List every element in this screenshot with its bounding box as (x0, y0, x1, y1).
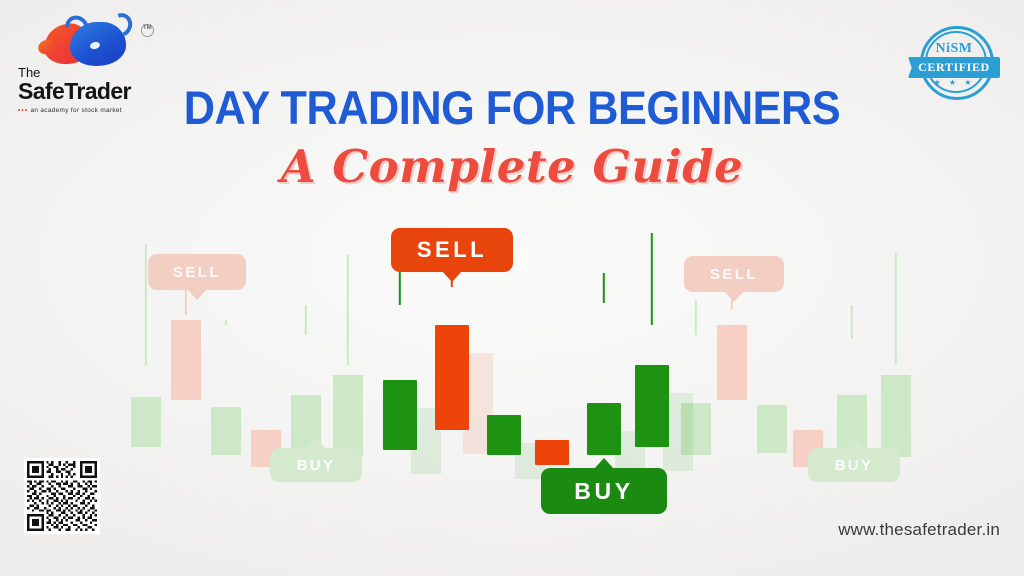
signal-tag-label: BUY (835, 457, 874, 474)
qr-code[interactable] (24, 458, 100, 534)
candlestick-wick (603, 273, 605, 303)
signal-tag-pointer-icon (187, 289, 207, 300)
qr-code-icon (27, 461, 97, 531)
candlestick-body (171, 320, 201, 400)
signal-tag-pointer-icon (724, 291, 744, 302)
candlestick-wick (145, 244, 147, 365)
candlestick-body (383, 380, 417, 450)
trademark-icon: TM (141, 24, 154, 37)
bull-horn-right-icon (106, 9, 136, 40)
candlestick-wick (851, 305, 853, 339)
candlestick-wick (695, 300, 697, 335)
badge-certified-label: CERTIFIED (908, 57, 1000, 78)
candlestick-wick (347, 255, 349, 365)
signal-tag-pointer-icon (844, 438, 864, 449)
signal-tag-label: BUY (297, 457, 336, 474)
signal-tag-pointer-icon (442, 271, 462, 282)
buy-signal-tag[interactable]: BUY (541, 468, 667, 514)
signal-tag-label: BUY (574, 478, 634, 505)
candlestick-wick (305, 305, 307, 335)
page-title: DAY TRADING FOR BEGINNERS (41, 80, 983, 135)
candlestick-body (587, 403, 621, 455)
sell-signal-tag[interactable]: SELL (148, 254, 246, 290)
bull-icon (70, 22, 126, 66)
signal-tag-label: SELL (173, 264, 221, 281)
badge-ribbon: CERTIFIED (908, 57, 1000, 78)
sell-signal-tag[interactable]: SELL (684, 256, 784, 292)
sell-signal-tag[interactable]: SELL (391, 228, 513, 272)
candlestick-wick (895, 253, 897, 365)
buy-signal-tag[interactable]: BUY (808, 448, 900, 482)
candlestick-body (333, 375, 363, 457)
candlestick-body (535, 440, 569, 465)
candlestick-body (881, 375, 911, 457)
website-url[interactable]: www.thesafetrader.in (838, 520, 1000, 540)
candlestick-body (757, 405, 787, 453)
candlestick-body (635, 365, 669, 447)
signal-tag-pointer-icon (594, 458, 614, 469)
candlestick-body (211, 407, 241, 455)
signal-tag-pointer-icon (306, 438, 326, 449)
candlestick-body (131, 397, 161, 447)
candlestick-wick (651, 233, 653, 325)
candlestick-body (717, 325, 747, 400)
buy-signal-tag[interactable]: BUY (270, 448, 362, 482)
page-subtitle: A Complete Guide (0, 140, 1024, 193)
bull-eye-icon (89, 41, 100, 50)
candlestick-body (487, 415, 521, 455)
bull-bear-logo-icon: TM (36, 22, 156, 64)
candlestick-body (681, 403, 711, 455)
poster-canvas: TM The SafeTrader ••• an academy for sto… (0, 0, 1024, 576)
signal-tag-label: SELL (417, 237, 487, 263)
candlestick-body (435, 325, 469, 430)
tagline-dots-icon: ••• (18, 107, 28, 114)
trademark-label: TM (143, 25, 152, 31)
candlestick-wick (225, 320, 227, 325)
signal-tag-label: SELL (710, 266, 758, 283)
badge-name: NiSM (906, 41, 1002, 57)
